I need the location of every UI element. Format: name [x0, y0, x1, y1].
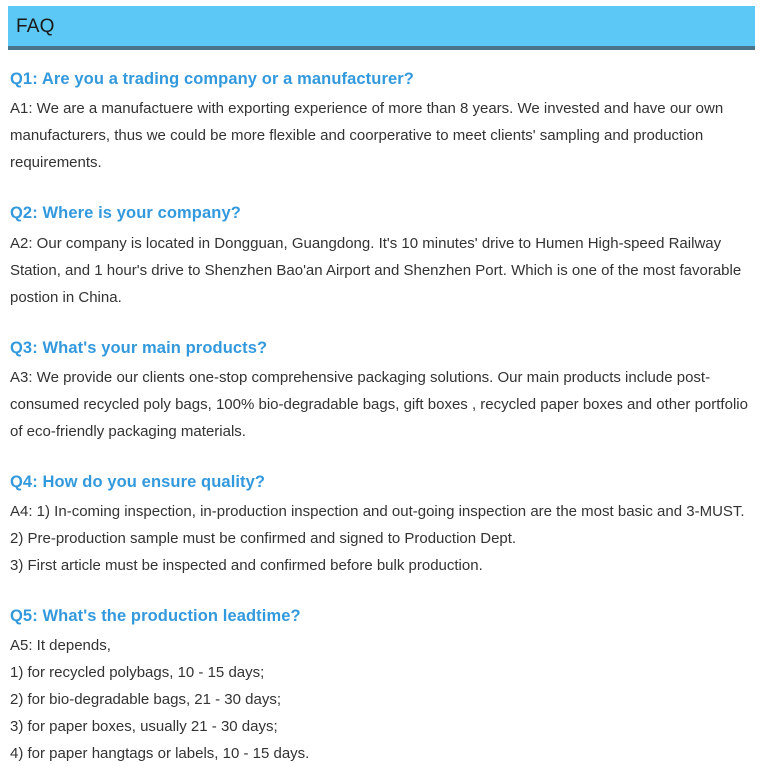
faq-question-q2: Q2: Where is your company? [10, 202, 755, 224]
faq-answer-q4: A4: 1) In-coming inspection, in-producti… [10, 498, 755, 579]
faq-header-bar: FAQ [8, 6, 755, 50]
faq-section-q1: Q1: Are you a trading company or a manuf… [10, 68, 755, 176]
faq-section-q4: Q4: How do you ensure quality? A4: 1) In… [10, 471, 755, 579]
faq-answer-line: A4: 1) In-coming inspection, in-producti… [10, 498, 755, 525]
faq-answer-line: 2) for bio-degradable bags, 21 - 30 days… [10, 686, 755, 713]
faq-question-q4: Q4: How do you ensure quality? [10, 471, 755, 493]
faq-section-q5: Q5: What's the production leadtime? A5: … [10, 605, 755, 767]
faq-answer-line: 3) for paper boxes, usually 21 - 30 days… [10, 713, 755, 740]
faq-answer-line: 1) for recycled polybags, 10 - 15 days; [10, 659, 755, 686]
faq-answer-line: 4) for paper hangtags or labels, 10 - 15… [10, 740, 755, 767]
faq-answer-q3: A3: We provide our clients one-stop comp… [10, 364, 755, 445]
faq-answer-q5: A5: It depends, 1) for recycled polybags… [10, 632, 755, 767]
faq-answer-line: 2) Pre-production sample must be confirm… [10, 525, 755, 552]
faq-answer-q2: A2: Our company is located in Dongguan, … [10, 230, 755, 311]
faq-page: FAQ Q1: Are you a trading company or a m… [0, 0, 765, 748]
faq-answer-line: A1: We are a manufactuere with exporting… [10, 95, 755, 176]
faq-question-q3: Q3: What's your main products? [10, 337, 755, 359]
faq-answer-line: A2: Our company is located in Dongguan, … [10, 230, 755, 311]
page-title: FAQ [8, 17, 55, 36]
faq-answer-line: 3) First article must be inspected and c… [10, 552, 755, 579]
faq-answer-line: A3: We provide our clients one-stop comp… [10, 364, 755, 445]
faq-question-q1: Q1: Are you a trading company or a manuf… [10, 68, 755, 90]
faq-sections-container: Q1: Are you a trading company or a manuf… [10, 68, 755, 767]
faq-section-q2: Q2: Where is your company? A2: Our compa… [10, 202, 755, 310]
faq-question-q5: Q5: What's the production leadtime? [10, 605, 755, 627]
faq-section-q3: Q3: What's your main products? A3: We pr… [10, 337, 755, 445]
faq-answer-line: A5: It depends, [10, 632, 755, 659]
faq-answer-q1: A1: We are a manufactuere with exporting… [10, 95, 755, 176]
